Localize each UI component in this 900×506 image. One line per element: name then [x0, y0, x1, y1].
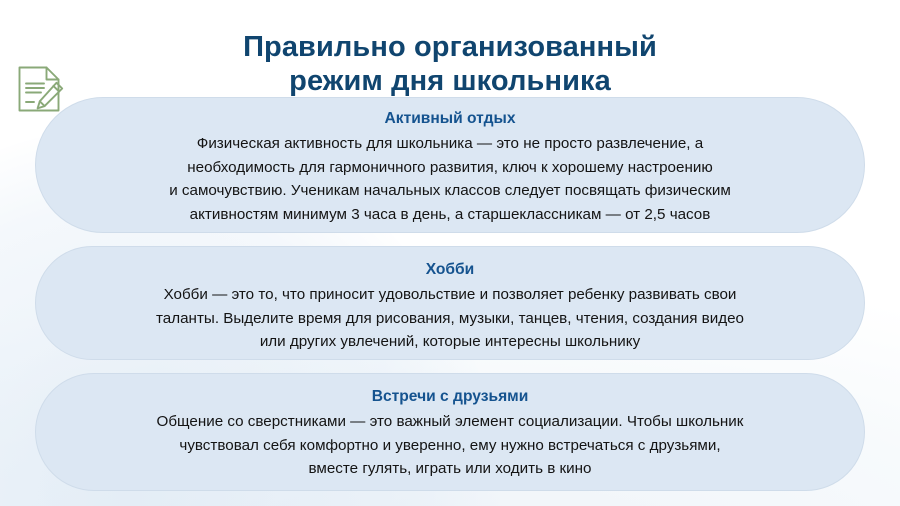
card-hobby: Хобби Хобби — это то, что приносит удово…	[35, 246, 865, 360]
slide-root: Правильно организованный режим дня школь…	[0, 0, 900, 506]
card-heading: Хобби	[70, 258, 830, 282]
card-body: Хобби — это то, что приносит удовольстви…	[70, 283, 830, 354]
cards-container: Активный отдых Физическая активность для…	[35, 97, 865, 491]
page-title: Правильно организованный режим дня школь…	[0, 30, 900, 98]
card-body: Физическая активность для школьника — эт…	[70, 132, 830, 226]
card-body: Общение со сверстниками — это важный эле…	[70, 410, 830, 481]
card-heading: Активный отдых	[70, 107, 830, 131]
card-heading: Встречи с друзьями	[70, 385, 830, 409]
card-active-rest: Активный отдых Физическая активность для…	[35, 97, 865, 233]
card-meeting-friends: Встречи с друзьями Общение со сверстника…	[35, 373, 865, 491]
